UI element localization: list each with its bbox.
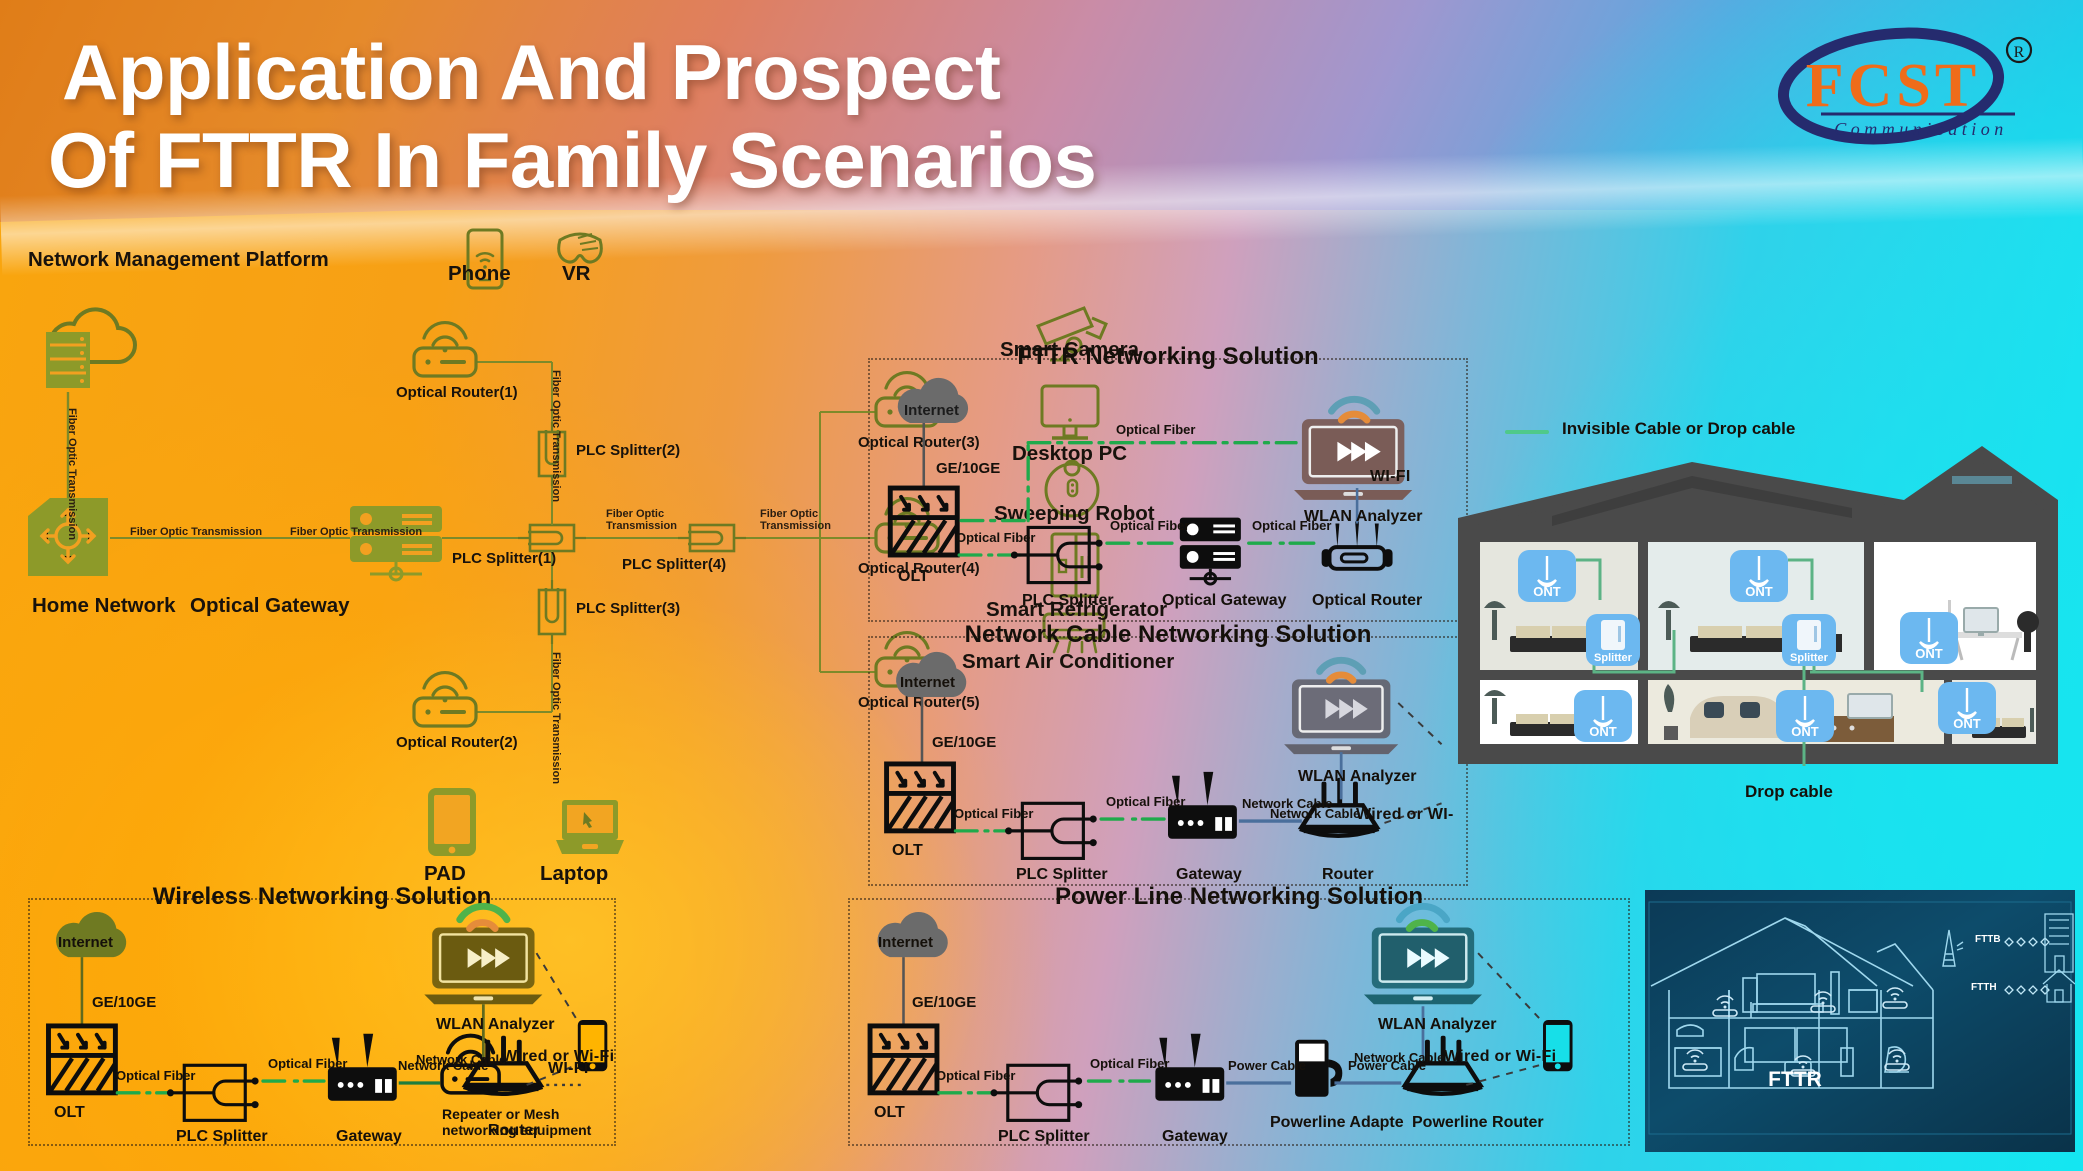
link-plc3-down: Fiber Optic Transmission bbox=[550, 652, 562, 784]
svg-text:ONT: ONT bbox=[1953, 716, 1981, 731]
svg-text:Splitter: Splitter bbox=[1594, 652, 1633, 664]
logo-brand-text: FCST bbox=[1806, 52, 1980, 120]
link-olt-plc-label: Optical Fiber bbox=[116, 1068, 195, 1083]
wlan-analyzer-icon bbox=[1284, 660, 1398, 754]
house-ftth-diagram: ONT ONT ONT ONT ONT bbox=[1452, 440, 2064, 770]
registered-icon: R bbox=[2007, 38, 2031, 62]
optical-gateway-label: Optical Gateway bbox=[190, 594, 350, 618]
drop-cable-label: Drop cable bbox=[1745, 782, 1833, 802]
internet-label: Internet bbox=[878, 934, 933, 951]
olt-label: OLT bbox=[874, 1104, 905, 1122]
network-management-platform-icon bbox=[46, 309, 135, 388]
ont-badge: ONT bbox=[1730, 550, 1788, 602]
internet-label: Internet bbox=[904, 402, 959, 419]
router-label: Router bbox=[1322, 866, 1374, 884]
uplink-label: GE/10GE bbox=[912, 994, 976, 1011]
link-plc1-to-plc4-line1: Fiber Optic bbox=[606, 508, 664, 520]
svg-text:ONT: ONT bbox=[1589, 724, 1617, 739]
blueprint-fttr-label: FTTR bbox=[1768, 1068, 1822, 1091]
fttr-blueprint-illustration: FTTR FTTB FTTH bbox=[1645, 890, 2075, 1152]
link-plc4-out-line1: Fiber Optic bbox=[760, 508, 818, 520]
wlan-analyzer-label: WLAN Analyzer bbox=[1298, 768, 1417, 786]
link-plc-gateway-label: Optical Fiber bbox=[1110, 518, 1189, 533]
link-plc4-out-line2: Transmission bbox=[760, 520, 831, 532]
ont-badge: ONT bbox=[1938, 682, 1996, 734]
svg-text:ONT: ONT bbox=[1791, 724, 1819, 739]
gateway-label: Gateway bbox=[336, 1128, 402, 1146]
internet-label: Internet bbox=[58, 934, 113, 951]
link-analyzer-label: Network Cable bbox=[1354, 1050, 1444, 1065]
plc-splitter-4-label: PLC Splitter(4) bbox=[622, 556, 726, 573]
olt-label: OLT bbox=[898, 568, 929, 586]
wireless-dashed-link bbox=[1384, 703, 1441, 823]
wlan-analyzer-label: WLAN Analyzer bbox=[436, 1016, 555, 1034]
blueprint-fttb-label: FTTB bbox=[1975, 934, 2001, 945]
internet-label: Internet bbox=[900, 674, 955, 691]
vr-label: VR bbox=[562, 262, 590, 286]
uplink-label: GE/10GE bbox=[92, 994, 156, 1011]
link-gateway-router-label: Optical Fiber bbox=[1252, 518, 1331, 533]
link-home-to-gateway: Fiber Optic Transmission bbox=[130, 526, 262, 538]
wlan-analyzer-icon bbox=[1364, 906, 1482, 1004]
logo-tagline-text: Communication bbox=[1834, 119, 2008, 139]
link-gateway-to-plc1: Fiber Optic Transmission bbox=[290, 526, 422, 538]
plc-splitter-label: PLC Splitter bbox=[1022, 592, 1114, 610]
home-network-label: Home Network bbox=[32, 594, 176, 618]
wlan-analyzer-label: WLAN Analyzer bbox=[1378, 1016, 1497, 1034]
olt-icon bbox=[890, 488, 957, 555]
plc-splitter-4-icon bbox=[678, 525, 746, 551]
link-plc-gateway-label: Optical Fiber bbox=[1090, 1056, 1169, 1071]
wired-or-wifi-label: Wired or Wi-Fi bbox=[502, 1048, 614, 1066]
wifi-label: WI-FI bbox=[1370, 468, 1411, 486]
fcst-logo: FCST Communication R bbox=[1743, 18, 2043, 158]
panel-wireless-networking: Wireless Networking Solution bbox=[28, 898, 616, 1146]
plc-splitter-2-label: PLC Splitter(2) bbox=[576, 442, 680, 459]
svg-text:ONT: ONT bbox=[1915, 646, 1943, 661]
wlan-analyzer-icon bbox=[424, 906, 542, 1004]
link-analyzer-label: Network Cable bbox=[416, 1052, 506, 1067]
optical-router-1-icon bbox=[414, 323, 476, 376]
repeater-label-line1: Repeater or Mesh bbox=[442, 1106, 559, 1122]
optical-gateway-label: Optical Gateway bbox=[1162, 592, 1287, 610]
platform-label: Network Management Platform bbox=[28, 248, 329, 272]
ont-badge: ONT bbox=[1776, 690, 1834, 742]
page-title: Application And Prospect Of FTTR In Fami… bbox=[62, 28, 1342, 204]
optical-router-label: Optical Router bbox=[1312, 592, 1422, 610]
link-platform-to-home: Fiber Optic Transmission bbox=[66, 408, 78, 540]
uplink-label: GE/10GE bbox=[932, 734, 996, 751]
splitter-badge: Splitter bbox=[1782, 614, 1836, 666]
wired-or-wifi-label: Wired or Wi-Fi bbox=[1444, 1048, 1556, 1066]
plc-splitter-1-icon bbox=[518, 525, 586, 551]
splitter-badge: Splitter bbox=[1586, 614, 1640, 666]
panel-power-line-networking: Power Line Networking Solution bbox=[848, 898, 1630, 1146]
legend-line-swatch bbox=[1505, 430, 1549, 434]
plc-splitter-label: PLC Splitter bbox=[998, 1128, 1090, 1146]
optical-router-2-label: Optical Router(2) bbox=[396, 734, 518, 751]
svg-text:R: R bbox=[2014, 44, 2025, 61]
link-plc-gateway-label: Optical Fiber bbox=[1106, 794, 1185, 809]
link-gateway-adapter-label: Power Cable bbox=[1228, 1058, 1306, 1073]
uplink-label: GE/10GE bbox=[936, 460, 1000, 477]
phone-label: Phone bbox=[448, 262, 511, 286]
tablet-icon bbox=[428, 788, 476, 856]
plc-splitter-1-label: PLC Splitter(1) bbox=[452, 550, 556, 567]
svg-text:ONT: ONT bbox=[1745, 584, 1773, 599]
olt-icon bbox=[48, 1026, 115, 1093]
title-line-2: Of FTTR In Family Scenarios bbox=[48, 116, 1342, 204]
link-olt-plc-label: Optical Fiber bbox=[954, 806, 1033, 821]
panel-network-cable-networking: Network Cable Networking Solution bbox=[868, 636, 1468, 886]
plc-splitter-label: PLC Splitter bbox=[1016, 866, 1108, 884]
powerline-adapter-label: Powerline Adapte bbox=[1270, 1114, 1404, 1132]
plc-splitter-3-icon bbox=[539, 580, 565, 644]
link-plc1-to-plc4-line2: Transmission bbox=[606, 520, 677, 532]
gateway-label: Gateway bbox=[1162, 1128, 1228, 1146]
svg-text:Splitter: Splitter bbox=[1790, 652, 1829, 664]
optical-gateway-icon bbox=[350, 506, 442, 580]
link-plc2-up: Fiber Optic Transmission bbox=[550, 370, 562, 502]
gateway-label: Gateway bbox=[1176, 866, 1242, 884]
svg-text:ONT: ONT bbox=[1533, 584, 1561, 599]
olt-icon bbox=[887, 764, 954, 831]
link-olt-plc-label: Optical Fiber bbox=[936, 1068, 1015, 1083]
laptop-label: Laptop bbox=[540, 862, 608, 886]
link-plc-gateway-label: Optical Fiber bbox=[268, 1056, 347, 1071]
link-analyzer-label: Optical Fiber bbox=[1116, 422, 1195, 437]
blueprint-ftth-label: FTTH bbox=[1971, 982, 1997, 993]
optical-router-1-label: Optical Router(1) bbox=[396, 384, 518, 401]
olt-icon bbox=[870, 1026, 937, 1093]
olt-label: OLT bbox=[892, 842, 923, 860]
link-analyzer-label: Network Cable bbox=[1270, 806, 1360, 821]
infographic-canvas: Application And Prospect Of FTTR In Fami… bbox=[0, 0, 2083, 1171]
router-label: Router bbox=[488, 1122, 540, 1140]
link-olt-plc-label: Optical Fiber bbox=[956, 530, 1035, 545]
legend-label: Invisible Cable or Drop cable bbox=[1562, 419, 1795, 439]
panel-fttr-networking: FTTR Networking Solution bbox=[868, 358, 1468, 622]
plc-splitter-3-label: PLC Splitter(3) bbox=[576, 600, 680, 617]
ont-badge: ONT bbox=[1574, 690, 1632, 742]
ont-badge: ONT bbox=[1900, 612, 1958, 664]
powerline-router-label: Powerline Router bbox=[1412, 1114, 1544, 1132]
ont-badge: ONT bbox=[1518, 550, 1576, 602]
fiber-olt-to-analyzer bbox=[961, 443, 1296, 521]
laptop-icon bbox=[556, 800, 624, 854]
optical-router-2-icon bbox=[414, 673, 476, 726]
optical-router-icon bbox=[1322, 522, 1393, 569]
plc-splitter-label: PLC Splitter bbox=[176, 1128, 268, 1146]
wifi-label: Wired or WI- bbox=[1356, 806, 1454, 824]
title-line-1: Application And Prospect bbox=[62, 28, 1342, 116]
olt-label: OLT bbox=[54, 1104, 85, 1122]
